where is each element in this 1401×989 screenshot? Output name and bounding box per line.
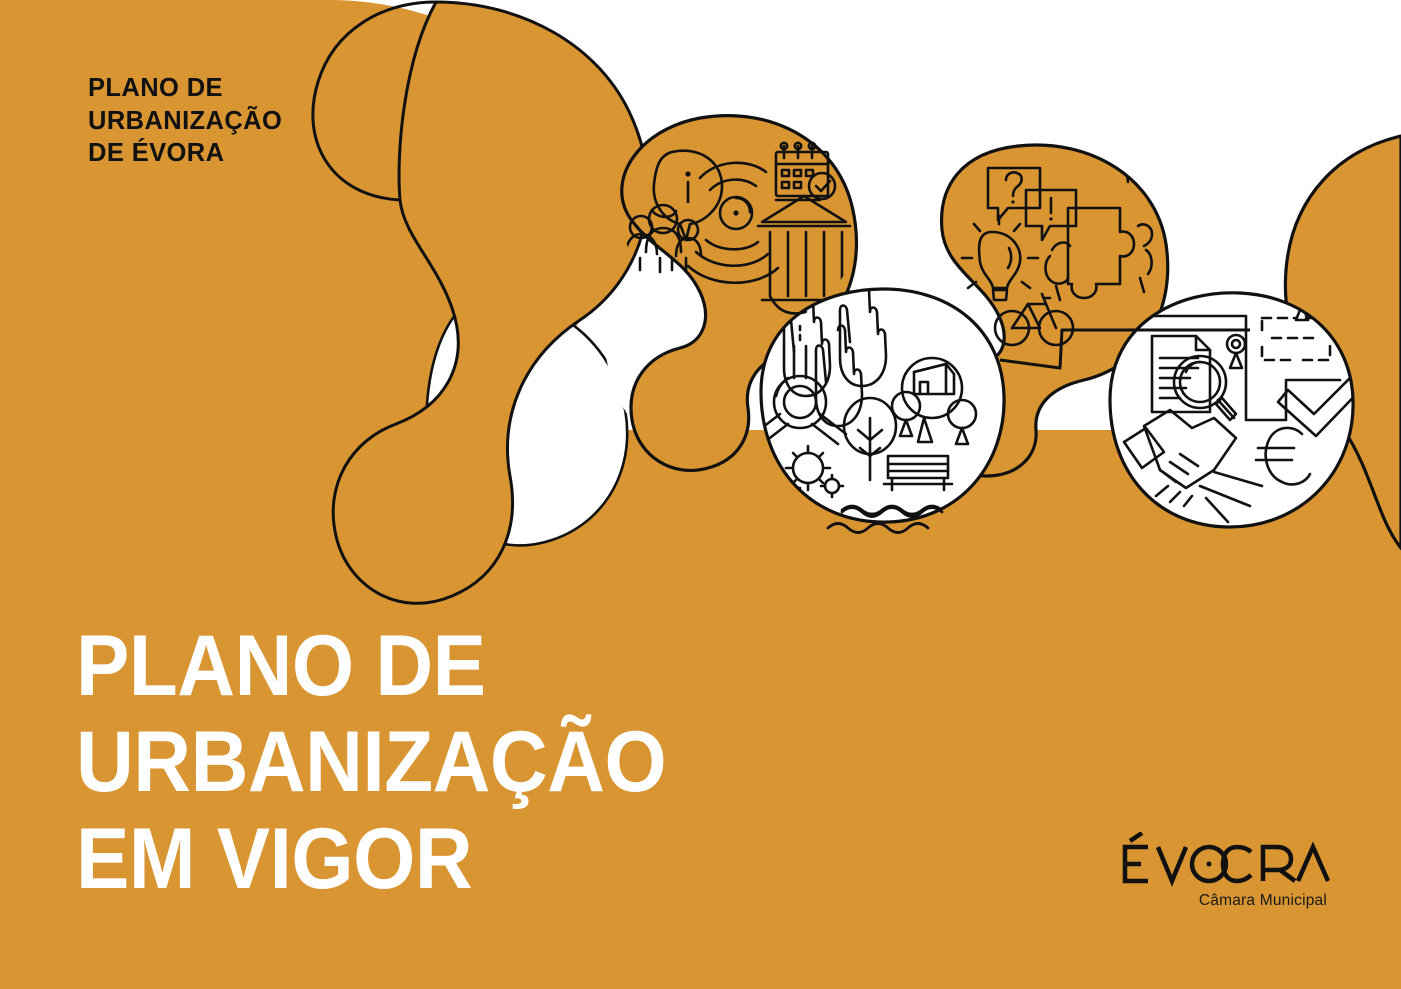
evora-wordmark-icon bbox=[1119, 832, 1334, 890]
evora-logo-subtitle: Câmara Municipal bbox=[1119, 892, 1339, 910]
page-eyebrow-title: PLANO DE URBANIZAÇÃO DE ÉVORA bbox=[88, 72, 388, 170]
cover-page: PLANO DE URBANIZAÇÃO DE ÉVORA PLANO DE U… bbox=[0, 0, 1401, 989]
evora-logo: Câmara Municipal bbox=[1119, 832, 1339, 922]
page-title: PLANO DE URBANIZAÇÃO EM VIGOR bbox=[76, 618, 1080, 907]
